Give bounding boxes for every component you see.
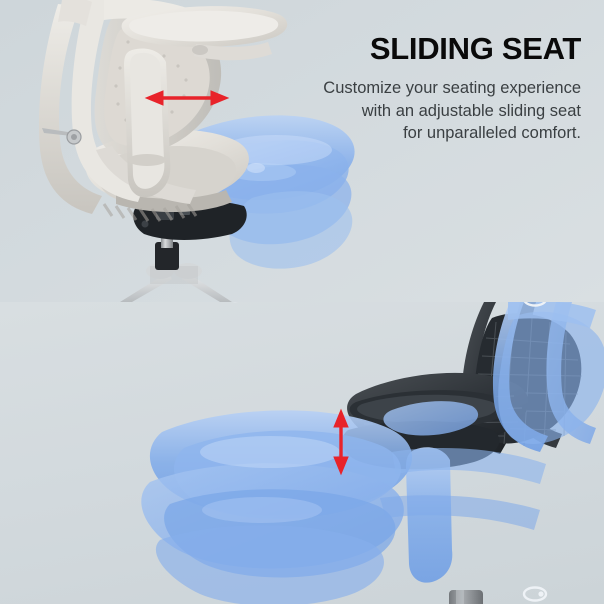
chair-dark-lowered	[342, 302, 582, 469]
panel-sliding-seat: SLIDING SEAT Customize your seating expe…	[0, 0, 604, 302]
ghost-chair-raised	[141, 302, 604, 604]
text-block-sliding-seat: SLIDING SEAT Customize your seating expe…	[323, 32, 581, 145]
backrest-top	[39, 0, 221, 214]
tilt-knob-top	[42, 128, 81, 144]
gas-cylinder	[449, 590, 483, 604]
tension-knob-real	[524, 588, 546, 601]
seat-pan-top	[86, 130, 249, 221]
chair-base-top	[120, 263, 232, 302]
product-infographic: SLIDING SEAT Customize your seating expe…	[0, 0, 604, 604]
body-line: with an adjustable sliding seat	[362, 102, 581, 120]
heading-sliding-seat: SLIDING SEAT	[323, 32, 581, 66]
body-line: Customize your seating experience	[323, 79, 581, 97]
body-line: for unparalleled comfort.	[403, 124, 581, 142]
panel-adjustable-height: ADJUSTABLE HEIGHT Fitted with a level 3 …	[0, 302, 604, 604]
gas-lift-top	[155, 208, 179, 270]
tension-knob	[524, 302, 546, 306]
tilt-mechanism-top	[133, 200, 247, 240]
body-sliding-seat: Customize your seating experience with a…	[323, 77, 581, 145]
armrest-top	[122, 6, 288, 197]
chair-adjustable-height-illustration	[0, 302, 604, 604]
